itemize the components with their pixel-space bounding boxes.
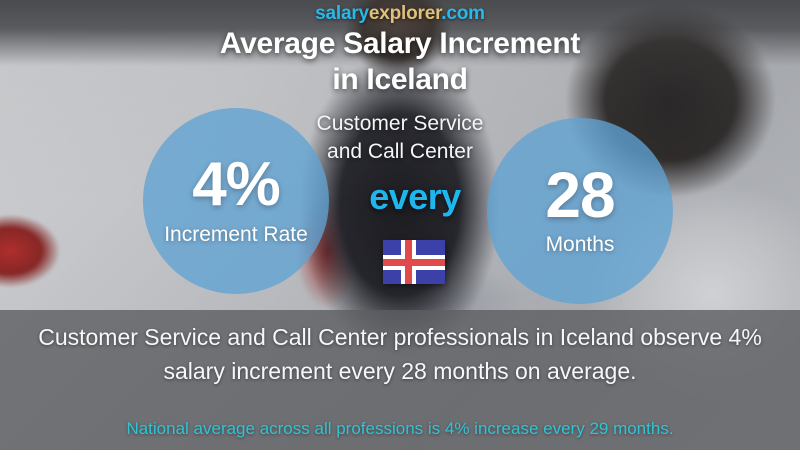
page-title-line-1: Average Salary Increment — [0, 26, 800, 62]
logo-part-salary: salary — [315, 3, 369, 24]
summary-text: Customer Service and Call Center profess… — [0, 320, 800, 388]
months-value: 28 — [545, 164, 614, 226]
page-subtitle: Customer Service and Call Center — [0, 110, 800, 166]
months-label: Months — [546, 232, 615, 258]
stat-circle-months: 28 Months — [487, 118, 673, 304]
page-title: Average Salary Increment in Iceland — [0, 26, 800, 98]
logo-part-domain: .com — [441, 3, 485, 24]
stat-circle-increment-rate: 4% Increment Rate — [143, 108, 329, 294]
footnote-text: National average across all professions … — [0, 419, 800, 439]
flag-red-cross-horizontal — [383, 259, 445, 266]
site-logo[interactable]: salaryexplorer.com — [0, 3, 800, 25]
page-subtitle-line-1: Customer Service — [0, 110, 800, 138]
logo-part-explorer: explorer — [369, 3, 441, 24]
page-subtitle-line-2: and Call Center — [0, 138, 800, 166]
increment-rate-value: 4% — [192, 154, 280, 216]
iceland-flag-icon — [383, 240, 445, 284]
increment-rate-label: Increment Rate — [164, 222, 308, 248]
page-title-line-2: in Iceland — [0, 62, 800, 98]
connector-label: every — [350, 176, 480, 218]
infographic-root: salaryexplorer.com Average Salary Increm… — [0, 0, 800, 450]
